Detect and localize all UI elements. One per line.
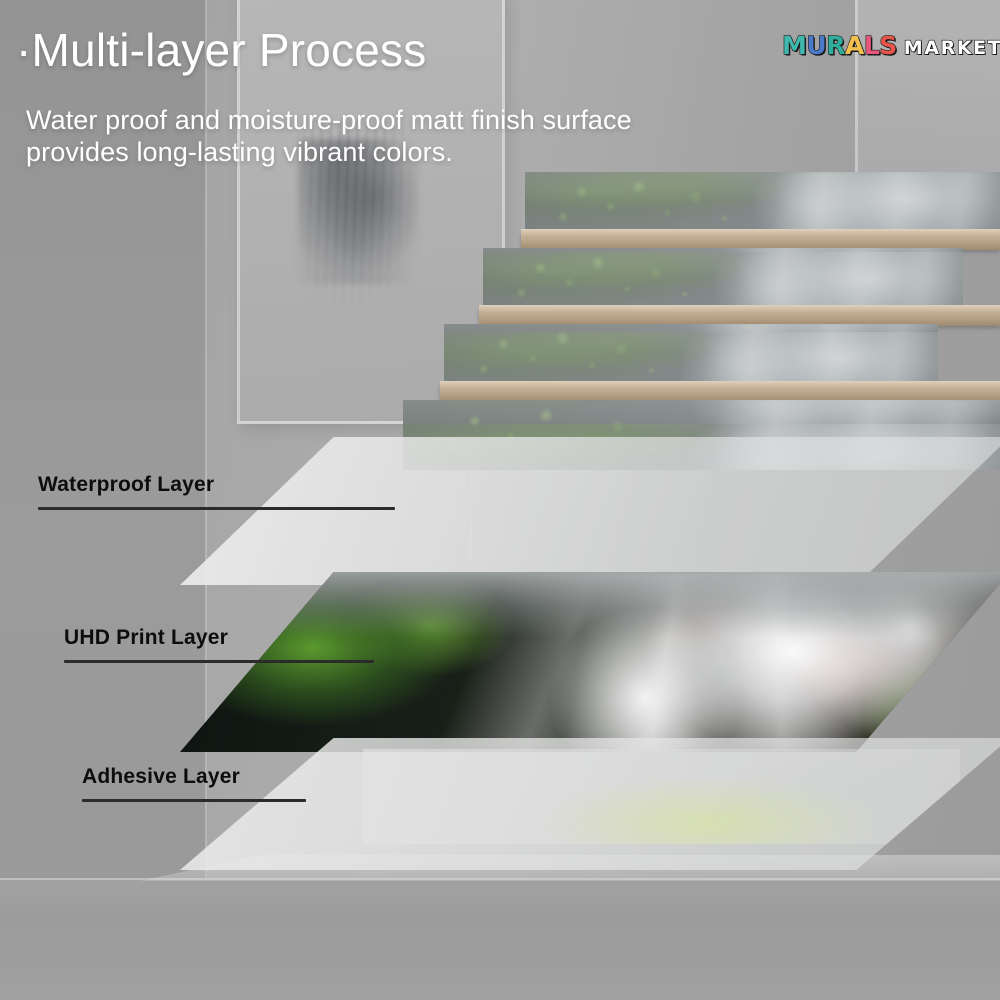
callout-label-uhd-print: UHD Print Layer bbox=[64, 627, 374, 648]
brand-letter-r-2: R bbox=[826, 33, 845, 58]
floor bbox=[0, 878, 1000, 1000]
stair-tread-top-2 bbox=[479, 305, 1000, 312]
adhesive-sheet-inner bbox=[363, 749, 961, 844]
callout-label-waterproof: Waterproof Layer bbox=[38, 474, 395, 495]
callout-adhesive: Adhesive Layer bbox=[82, 766, 306, 802]
brand-letter-s-5: S bbox=[879, 33, 897, 58]
subtitle-line-1: Water proof and moisture-proof matt fini… bbox=[26, 105, 632, 137]
brand-letter-m-0: M bbox=[782, 33, 806, 58]
stair-tread-top-3 bbox=[440, 381, 1000, 388]
brand-logo[interactable]: MURALS MARKET bbox=[782, 33, 1000, 58]
callout-rule-waterproof bbox=[38, 507, 395, 510]
callout-rule-adhesive bbox=[82, 799, 306, 802]
page-title: ·Multi-layer Process bbox=[16, 27, 426, 73]
brand-letter-u-1: U bbox=[806, 33, 826, 58]
brand-letter-l-4: L bbox=[864, 33, 879, 58]
brand-logo-market: MARKET bbox=[904, 39, 1000, 58]
stair-tread-top-1 bbox=[521, 229, 1000, 236]
subtitle-line-2: provides long-lasting vibrant colors. bbox=[26, 137, 632, 169]
brand-logo-murals: MURALS bbox=[782, 33, 897, 58]
page-subtitle: Water proof and moisture-proof matt fini… bbox=[26, 105, 632, 169]
callout-rule-uhd-print bbox=[64, 660, 374, 663]
brand-letter-a-3: A bbox=[845, 33, 864, 58]
callout-uhd-print: UHD Print Layer bbox=[64, 627, 374, 663]
callout-waterproof: Waterproof Layer bbox=[38, 474, 395, 510]
promo-graphic: Waterproof Layer UHD Print Layer Adhesiv… bbox=[0, 0, 1000, 1000]
floor-baseline bbox=[0, 878, 1000, 880]
callout-label-adhesive: Adhesive Layer bbox=[82, 766, 306, 787]
